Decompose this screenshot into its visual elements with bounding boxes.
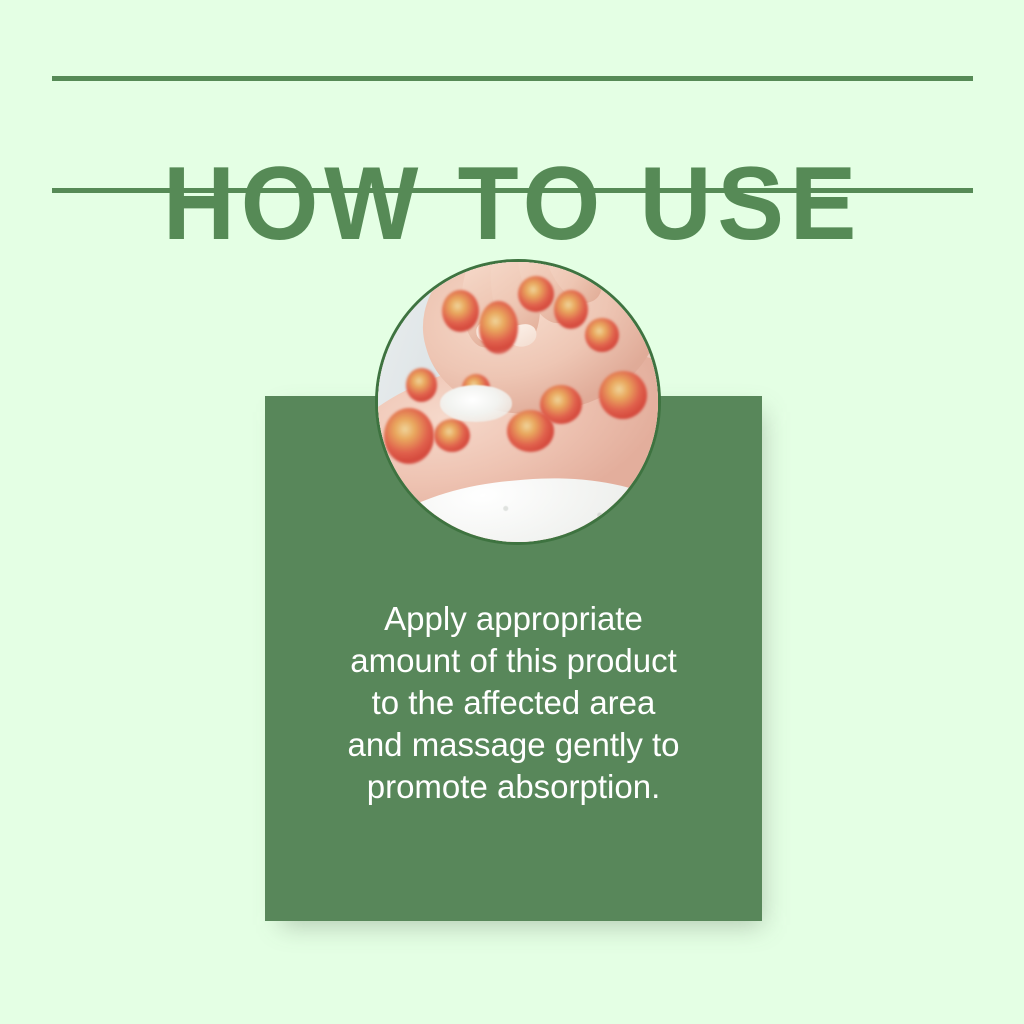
photo-inner bbox=[378, 262, 658, 542]
cream-dab bbox=[440, 385, 513, 421]
header-rule-bottom bbox=[52, 188, 973, 193]
instruction-line: and massage gently to bbox=[285, 724, 742, 766]
instruction-line: amount of this product bbox=[285, 640, 742, 682]
instruction-line: to the affected area bbox=[285, 682, 742, 724]
skin-lesion bbox=[599, 371, 647, 419]
page-title: HOW TO USE bbox=[70, 151, 954, 258]
skin-lesion bbox=[384, 408, 434, 464]
instruction-text: Apply appropriate amount of this product… bbox=[285, 598, 742, 808]
skin-lesion bbox=[442, 290, 478, 332]
skin-lesion bbox=[554, 290, 588, 329]
instruction-line: Apply appropriate bbox=[285, 598, 742, 640]
skin-treatment-photo bbox=[378, 262, 658, 542]
skin-lesion bbox=[585, 318, 619, 352]
header-block: HOW TO USE bbox=[52, 76, 973, 193]
header-rule-top bbox=[52, 76, 973, 81]
instruction-line: promote absorption. bbox=[285, 766, 742, 808]
skin-lesion bbox=[479, 301, 518, 354]
how-to-use-poster: HOW TO USE bbox=[0, 0, 1024, 1024]
skin-lesion bbox=[406, 368, 437, 402]
